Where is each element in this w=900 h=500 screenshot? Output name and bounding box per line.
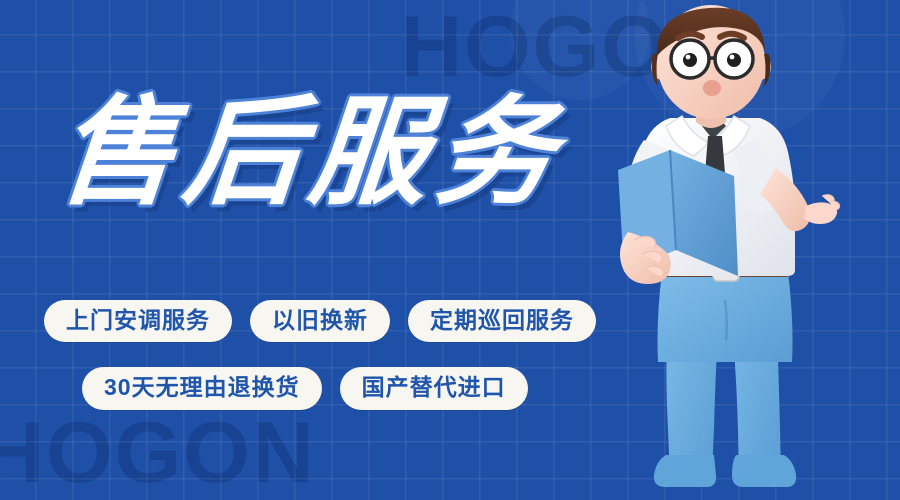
badge-regular-inspection[interactable]: 定期巡回服务 <box>408 300 596 342</box>
badge-trade-in[interactable]: 以旧换新 <box>250 300 390 342</box>
character-legs <box>658 272 793 475</box>
feature-badge-group: 上门安调服务 以旧换新 定期巡回服务 30天无理由退换货 国产替代进口 <box>44 300 596 435</box>
service-staff-illustration <box>600 0 900 500</box>
page-title: 售后服务 <box>53 92 568 215</box>
character-shoes <box>654 455 796 487</box>
feature-badge-row-2: 30天无理由退换货 国产替代进口 <box>44 367 596 409</box>
after-sales-service-banner: HOGON HOGON <box>0 0 900 500</box>
character-head <box>651 5 771 119</box>
feature-badge-row-1: 上门安调服务 以旧换新 定期巡回服务 <box>44 300 596 342</box>
badge-30-day-return[interactable]: 30天无理由退换货 <box>82 367 322 409</box>
badge-on-site-installation[interactable]: 上门安调服务 <box>44 300 232 342</box>
badge-domestic-substitute[interactable]: 国产替代进口 <box>340 367 528 409</box>
